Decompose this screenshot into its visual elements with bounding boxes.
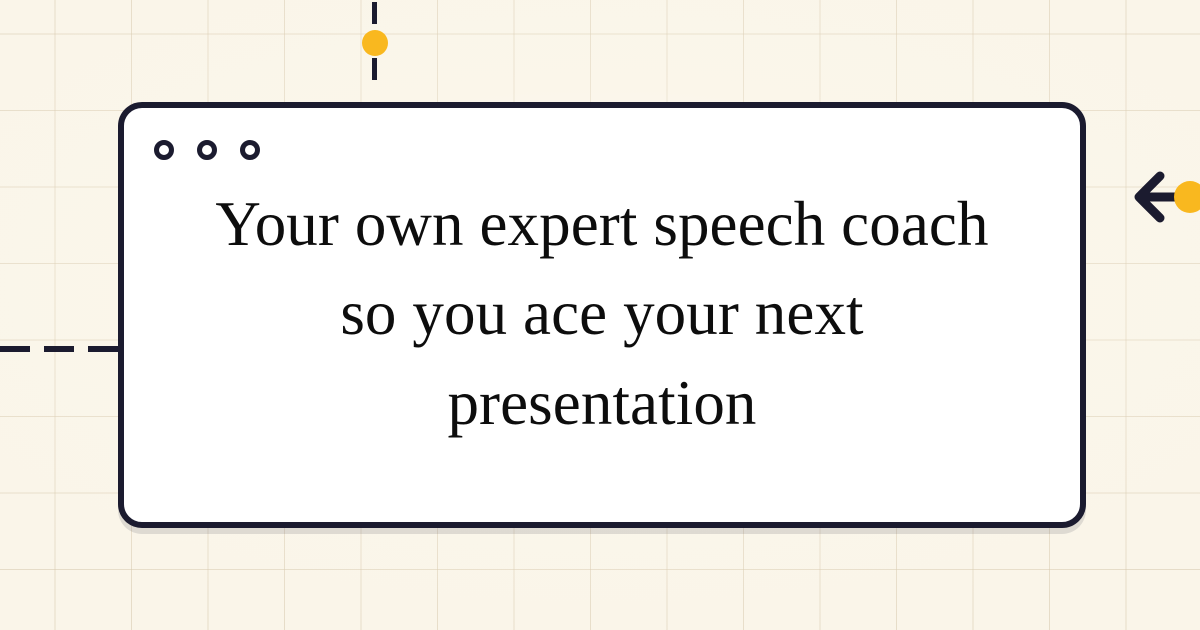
dashed-line-horizontal-icon (0, 346, 30, 352)
window-dot-close-icon[interactable] (154, 140, 174, 160)
right-connector (1134, 168, 1200, 226)
browser-window-card: Your own expert speech coach so you ace … (118, 102, 1086, 528)
dashed-line-horizontal-icon (88, 346, 118, 352)
dashed-line-horizontal-icon (44, 346, 74, 352)
card-body: Your own expert speech coach so you ace … (124, 180, 1080, 482)
yellow-dot-icon (1174, 181, 1200, 213)
dashed-line-vertical-icon (372, 2, 377, 24)
top-connector (368, 0, 381, 100)
window-dot-minimize-icon[interactable] (197, 140, 217, 160)
page-title: Your own expert speech coach so you ace … (202, 180, 1002, 448)
poster-canvas: Your own expert speech coach so you ace … (0, 0, 1200, 630)
dashed-line-vertical-icon (372, 58, 377, 80)
yellow-dot-icon (362, 30, 388, 56)
window-dot-maximize-icon[interactable] (240, 140, 260, 160)
left-connector (0, 344, 124, 354)
window-controls (154, 140, 260, 160)
